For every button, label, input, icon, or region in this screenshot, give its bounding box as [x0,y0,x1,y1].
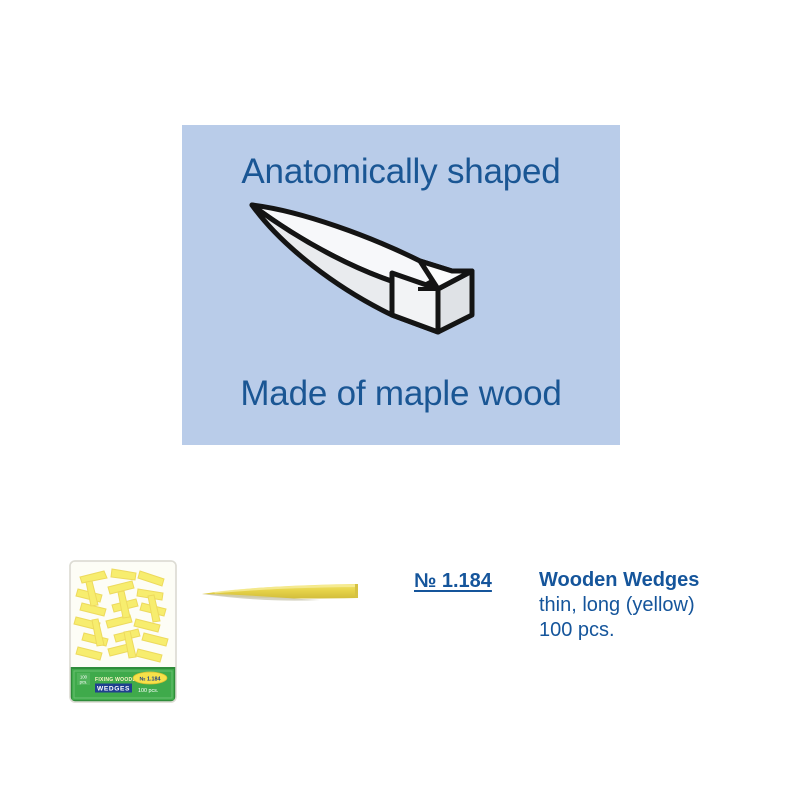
product-name: Wooden Wedges [539,568,699,593]
feature-headline-bottom: Made of maple wood [182,374,620,414]
single-wedge-photo [200,570,365,616]
svg-text:№ 1.184: № 1.184 [140,676,161,682]
catalog-number: № 1.184 [414,570,492,593]
wedge-3d-illustration [242,189,492,344]
svg-text:WEDGES: WEDGES [97,685,130,692]
svg-text:pcs.: pcs. [80,680,88,685]
package-photo: 100 pcs. FIXING WOODEN WEDGES № 1.184 10… [68,559,178,704]
product-detail-variant: thin, long (yellow) [539,593,699,618]
product-detail-quantity: 100 pcs. [539,618,699,643]
feature-panel: Anatomically shaped Made of maple wood [182,125,620,445]
feature-headline-top: Anatomically shaped [182,152,620,192]
svg-text:100 pcs.: 100 pcs. [138,688,158,694]
product-strip: 100 pcs. FIXING WOODEN WEDGES № 1.184 10… [0,552,800,722]
product-description: Wooden Wedges thin, long (yellow) 100 pc… [539,568,699,643]
